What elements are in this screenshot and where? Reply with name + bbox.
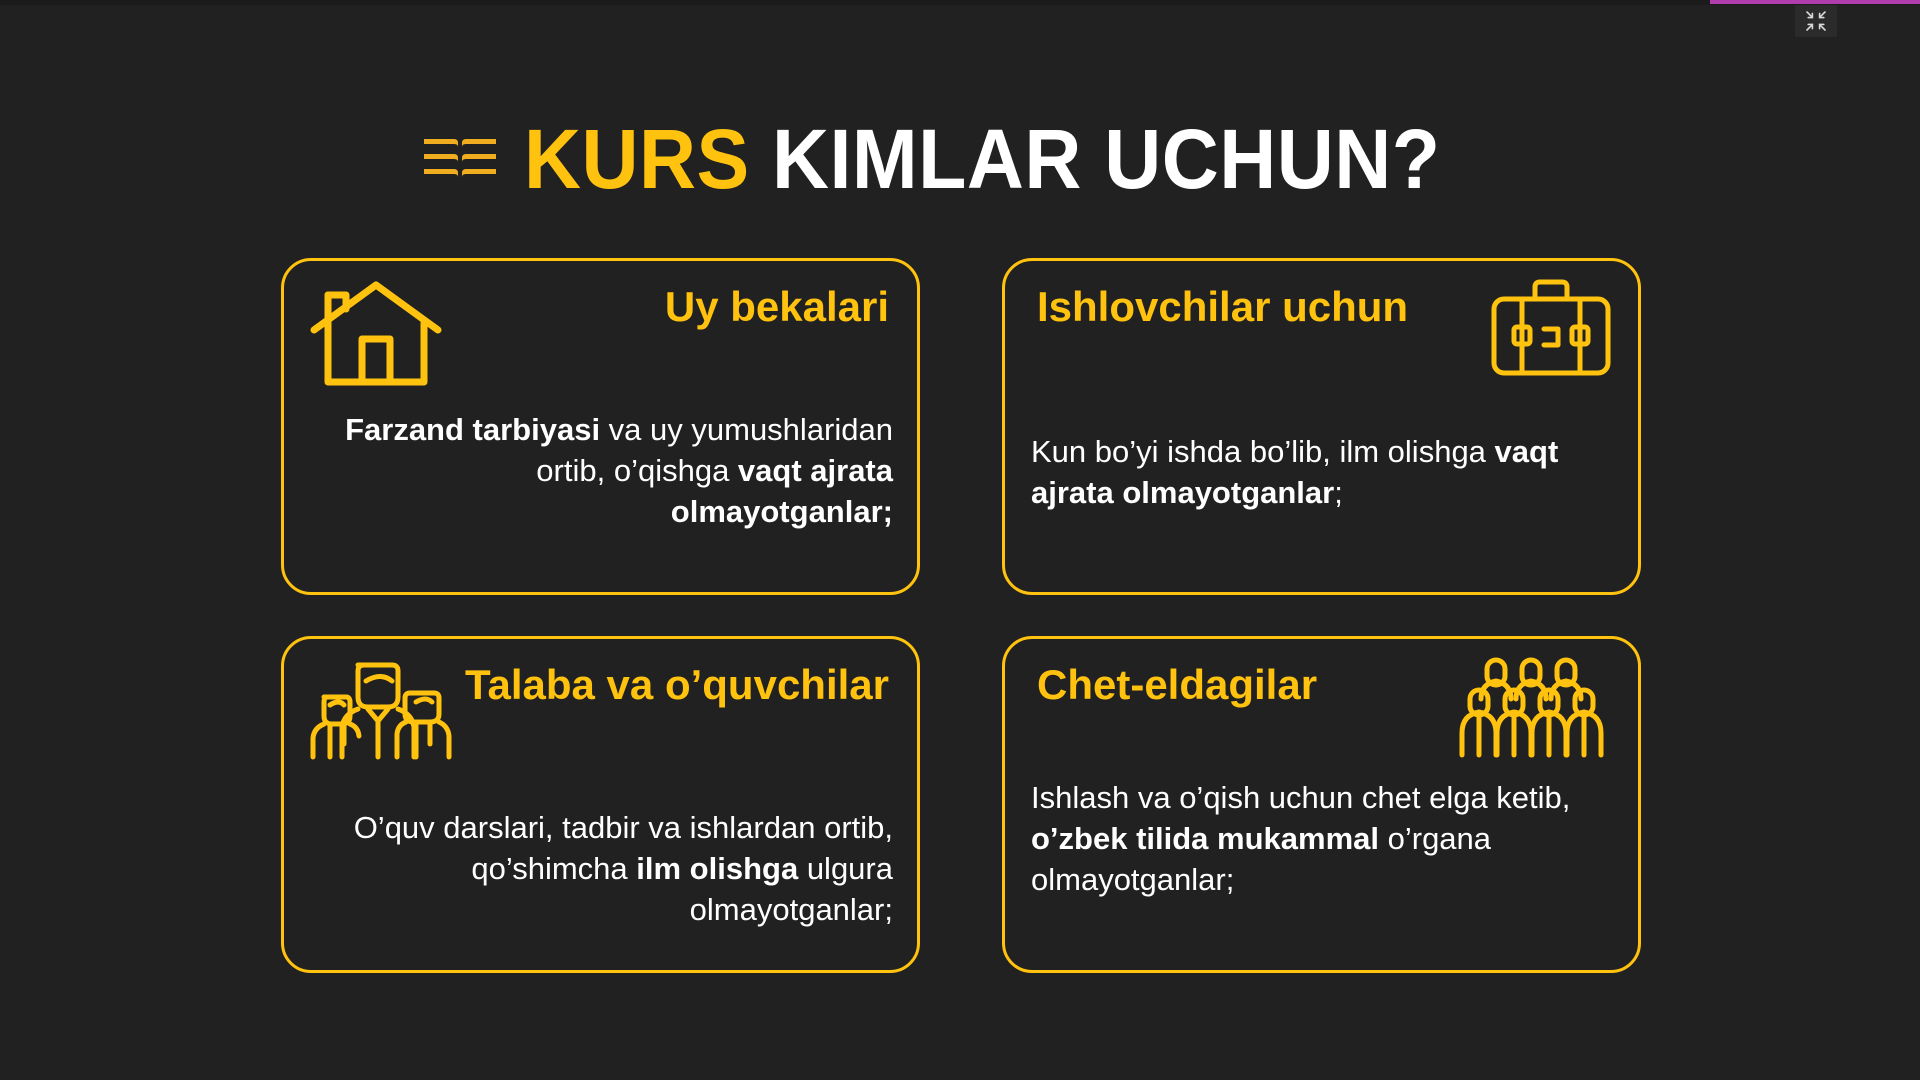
card-title: Ishlovchilar uchun xyxy=(1027,277,1486,330)
exit-fullscreen-button[interactable] xyxy=(1795,5,1837,37)
progress-bar xyxy=(1710,0,1920,4)
presentation-slide: KURS KIMLAR UCHUN? Uy bekalari F xyxy=(0,5,1920,1080)
card-chet-eldagilar[interactable]: Chet-eldagilar Ishlash va o’qish uchun c… xyxy=(1002,636,1641,973)
card-title: Uy bekalari xyxy=(446,277,895,330)
briefcase-icon xyxy=(1486,277,1616,385)
card-uy-bekalari[interactable]: Uy bekalari Farzand tarbiyasi va uy yumu… xyxy=(281,258,920,595)
exit-fullscreen-icon xyxy=(1804,9,1828,33)
card-talaba-va-oquvchilar[interactable]: Talaba va o’quvchilar O’quv darslari, ta… xyxy=(281,636,920,973)
card-header: Ishlovchilar uchun xyxy=(1027,277,1616,409)
card-title: Talaba va o’quvchilar xyxy=(456,655,895,708)
card-body: Farzand tarbiyasi va uy yumushlaridan or… xyxy=(306,409,895,533)
card-body: Ishlash va o’qish uchun chet elga ketib,… xyxy=(1027,777,1616,901)
open-book-icon xyxy=(422,133,498,191)
card-header: Talaba va o’quvchilar xyxy=(306,655,895,773)
slide-heading: KURS KIMLAR UCHUN? xyxy=(0,113,1920,205)
card-body-text-2: ; xyxy=(1334,475,1343,510)
browser-top-bar xyxy=(0,0,1920,5)
audience-card-grid: Uy bekalari Farzand tarbiyasi va uy yumu… xyxy=(281,258,1641,973)
card-body-bold-1: ilm olishga xyxy=(636,851,798,886)
card-body: Kun bo’yi ishda bo’lib, ilm olishga vaqt… xyxy=(1027,431,1616,513)
card-ishlovchilar[interactable]: Ishlovchilar uchun Kun bo’yi ishda bo’li… xyxy=(1002,258,1641,595)
card-title: Chet-eldagilar xyxy=(1027,655,1451,708)
title-accent-word: KURS xyxy=(524,112,750,206)
card-header: Chet-eldagilar xyxy=(1027,655,1616,767)
card-body-text-1: Ishlash va o’qish uchun chet elga ketib, xyxy=(1031,780,1570,815)
card-body-bold-1: o’zbek tilida mukammal xyxy=(1031,821,1379,856)
page-title: KURS KIMLAR UCHUN? xyxy=(524,117,1440,201)
three-people-icon xyxy=(306,655,456,765)
card-body: O’quv darslari, tadbir va ishlardan orti… xyxy=(306,807,895,931)
title-plain-words: KIMLAR UCHUN? xyxy=(749,112,1440,206)
card-body-bold-1: Farzand tarbiyasi xyxy=(345,412,600,447)
house-icon xyxy=(306,277,446,392)
crowd-people-icon xyxy=(1451,655,1616,760)
card-body-text-1: Kun bo’yi ishda bo’lib, ilm olishga xyxy=(1031,434,1495,469)
card-header: Uy bekalari xyxy=(306,277,895,395)
